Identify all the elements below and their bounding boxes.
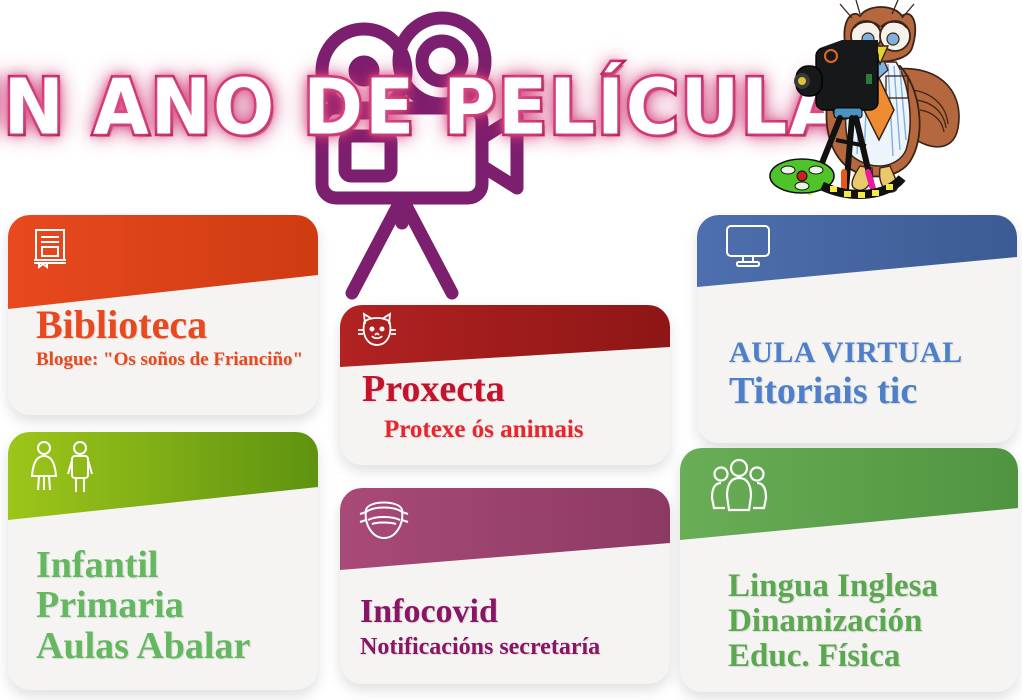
card-line-aulas-abalar: Aulas Abalar bbox=[36, 626, 304, 666]
card-biblioteca[interactable]: Biblioteca Blogue: "Os soños de Frianciñ… bbox=[8, 215, 318, 415]
card-title-infocovid: Infocovid bbox=[360, 594, 656, 630]
card-line-lingua-inglesa: Lingua Inglesa bbox=[728, 569, 1004, 604]
card-subtitle-proxecta: Protexe ós animais bbox=[362, 416, 656, 444]
card-subtitle-titoriais-tic: Titoriais tic bbox=[729, 371, 1003, 413]
book-icon bbox=[26, 225, 74, 273]
card-infantil[interactable]: Infantil Primaria Aulas Abalar bbox=[8, 432, 318, 690]
card-title-infantil: Infantil bbox=[36, 545, 304, 585]
card-infocovid[interactable]: Infocovid Notificacións secretaría bbox=[340, 488, 670, 684]
group-people-icon bbox=[708, 458, 770, 516]
card-body-lingua: Lingua Inglesa Dinamización Educ. Física bbox=[680, 569, 1018, 682]
card-line-dinamizacion: Dinamización bbox=[728, 604, 1004, 639]
card-body-aula-virtual: AULA VIRTUAL Titoriais tic bbox=[697, 337, 1017, 421]
card-lingua[interactable]: Lingua Inglesa Dinamización Educ. Física bbox=[680, 448, 1018, 692]
card-subtitle-biblioteca: Blogue: "Os soños de Frianciño" bbox=[36, 350, 304, 371]
card-title-aula-virtual: AULA VIRTUAL bbox=[729, 337, 1003, 369]
card-body-proxecta: Proxecta Protexe ós animais bbox=[340, 369, 670, 451]
card-line-educ-fisica: Educ. Física bbox=[728, 639, 1004, 674]
girl-boy-icon bbox=[24, 440, 102, 494]
card-title-proxecta: Proxecta bbox=[362, 369, 656, 409]
card-title-biblioteca: Biblioteca bbox=[36, 304, 304, 346]
owl-mascot-illustration bbox=[760, 0, 990, 205]
film-camera-icon bbox=[292, 8, 542, 308]
card-aula-virtual[interactable]: AULA VIRTUAL Titoriais tic bbox=[697, 215, 1017, 443]
card-subtitle-infocovid: Notificacións secretaría bbox=[360, 634, 656, 660]
cat-face-icon bbox=[356, 310, 398, 352]
card-proxecta[interactable]: Proxecta Protexe ós animais bbox=[340, 305, 670, 465]
card-body-infantil: Infantil Primaria Aulas Abalar bbox=[8, 545, 318, 674]
card-body-biblioteca: Biblioteca Blogue: "Os soños de Frianciñ… bbox=[8, 304, 318, 379]
face-mask-icon bbox=[356, 496, 412, 546]
card-body-infocovid: Infocovid Notificacións secretaría bbox=[340, 594, 670, 668]
card-line-primaria: Primaria bbox=[36, 585, 304, 625]
monitor-icon bbox=[721, 221, 775, 271]
